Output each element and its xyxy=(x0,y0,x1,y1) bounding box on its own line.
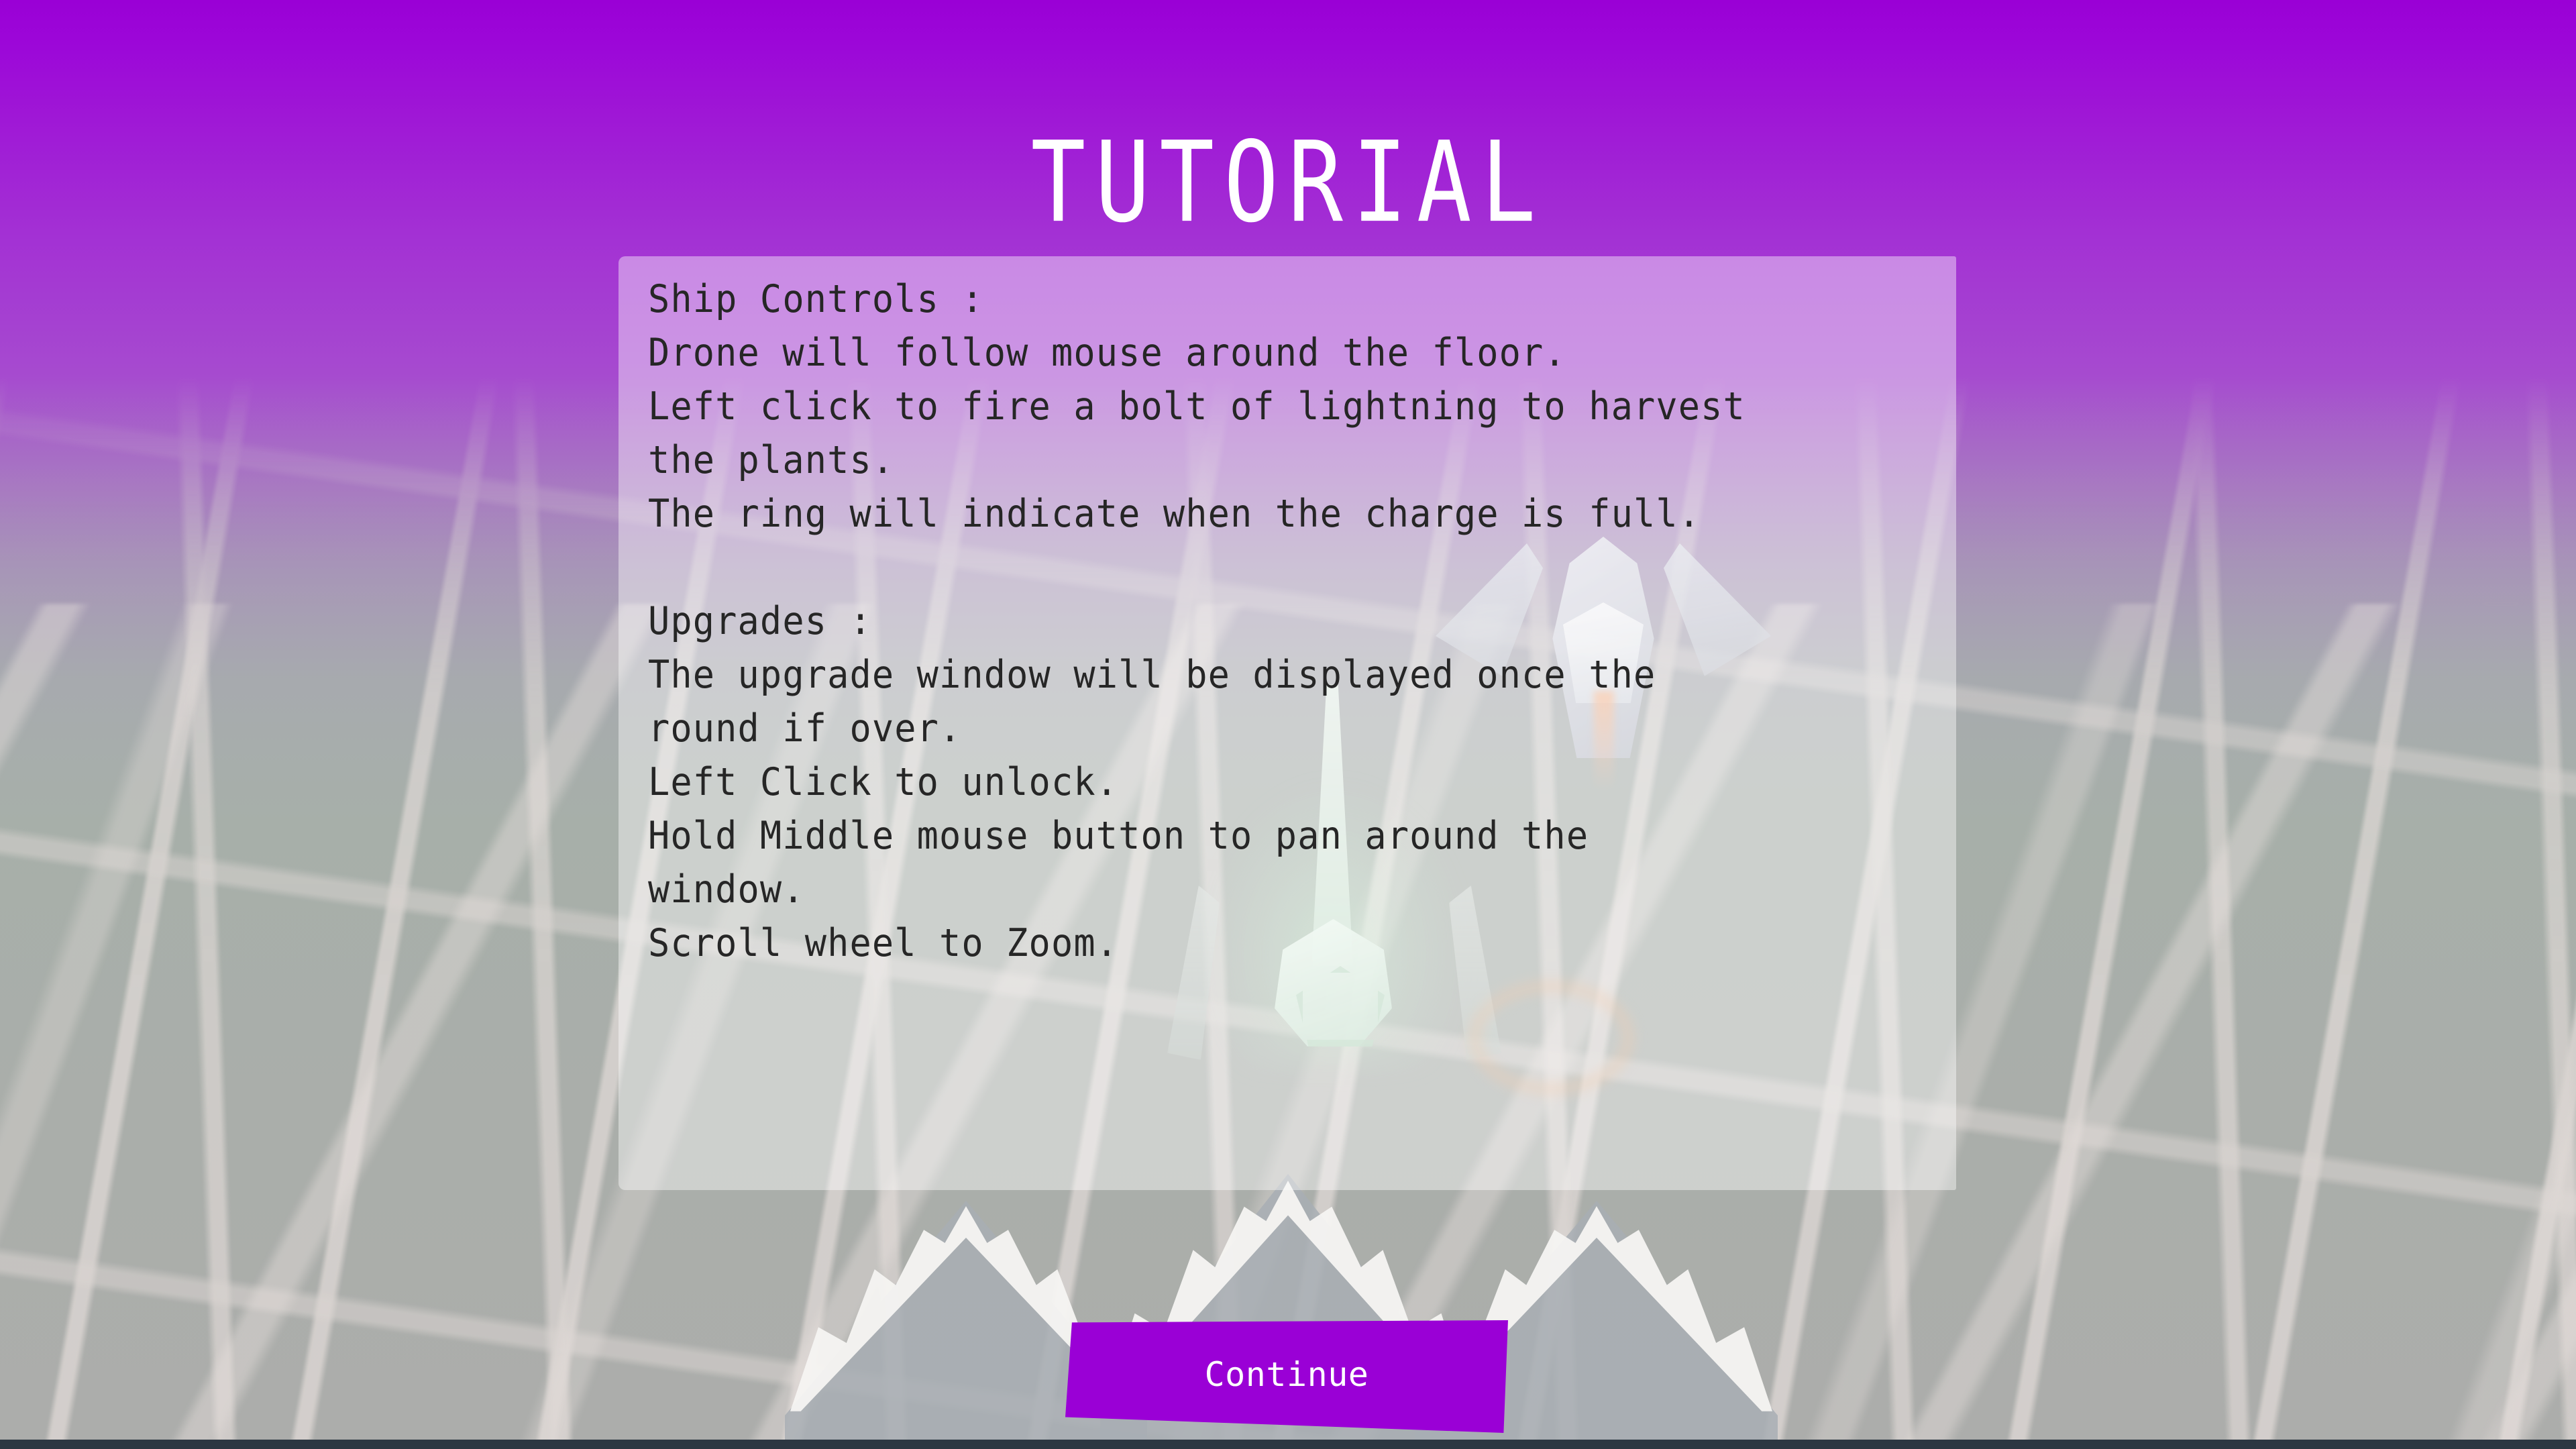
continue-button-wrap: Continue xyxy=(1065,1320,1508,1433)
tutorial-instructions-text: Ship Controls : Drone will follow mouse … xyxy=(648,272,1850,970)
continue-button[interactable] xyxy=(1065,1320,1508,1433)
letterbox-bar xyxy=(0,1440,2576,1449)
tutorial-screen: TUTORIAL Ship Controls : Drone will foll… xyxy=(0,0,2576,1449)
page-title: TUTORIAL xyxy=(0,127,2576,239)
tutorial-panel: Ship Controls : Drone will follow mouse … xyxy=(619,256,1956,1190)
